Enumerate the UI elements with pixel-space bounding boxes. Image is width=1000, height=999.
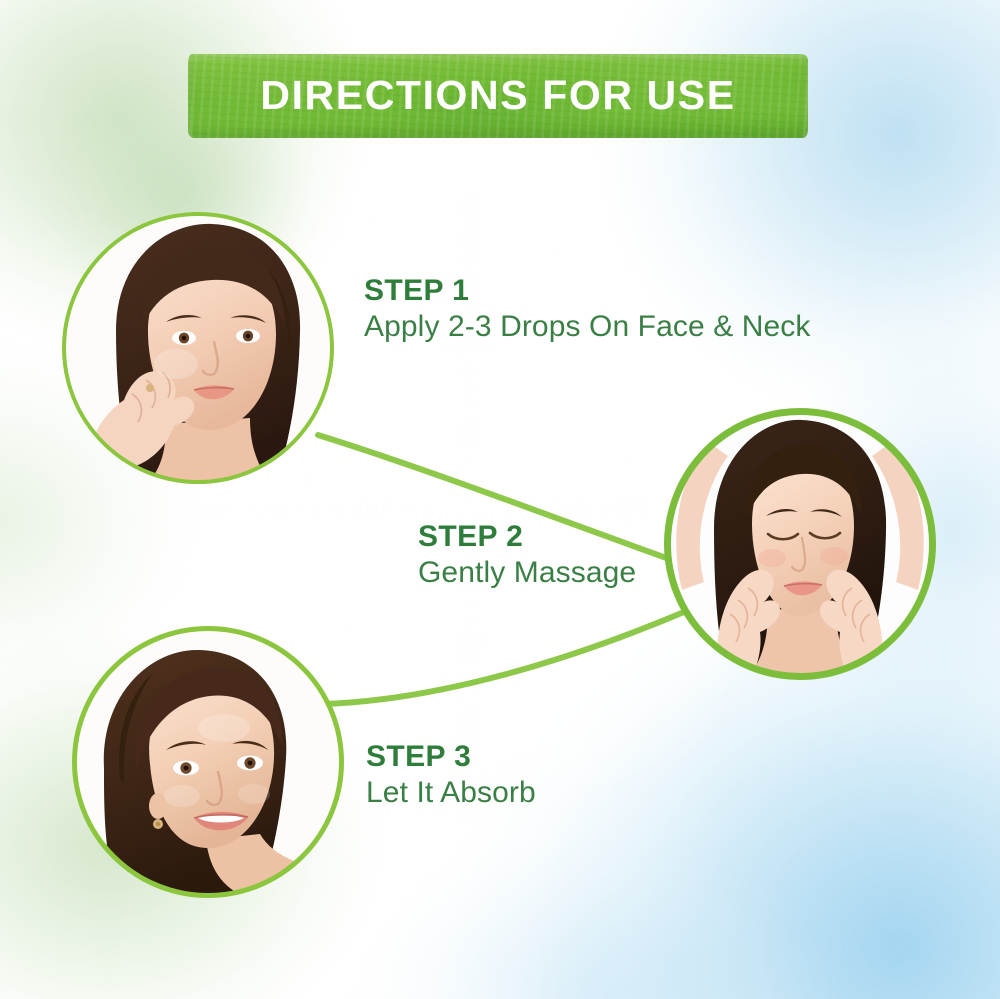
step-1-label: STEP 1 — [364, 274, 811, 308]
step-2-photo — [668, 412, 932, 676]
blue-wash-bottom — [340, 799, 860, 999]
title-banner: DIRECTIONS FOR USE — [188, 54, 808, 138]
step-3-label: STEP 3 — [366, 740, 536, 774]
step-2-text-block: STEP 2 Gently Massage — [418, 520, 636, 591]
step-3-photo-circle — [74, 628, 342, 896]
step-3-description: Let It Absorb — [366, 774, 536, 812]
connector-step-3-to-2 — [324, 612, 684, 704]
step-1-text-block: STEP 1 Apply 2-3 Drops On Face & Neck — [364, 274, 811, 345]
step-3-photo — [74, 628, 342, 896]
connector-step-3-to-2-halo — [324, 612, 684, 704]
step-2-label: STEP 2 — [418, 520, 636, 554]
step-1-photo — [62, 212, 334, 484]
step-3-illustration — [74, 628, 342, 896]
directions-for-use-infographic: DIRECTIONS FOR USE — [0, 0, 1000, 999]
page-title: DIRECTIONS FOR USE — [188, 54, 808, 138]
step-1-photo-circle — [62, 212, 334, 484]
step-2-illustration — [668, 412, 932, 676]
step-3-text-block: STEP 3 Let It Absorb — [366, 740, 536, 811]
step-1-illustration — [62, 212, 334, 484]
step-2-photo-circle — [668, 412, 932, 676]
step-1-description: Apply 2-3 Drops On Face & Neck — [364, 308, 811, 346]
step-2-description: Gently Massage — [418, 554, 636, 592]
